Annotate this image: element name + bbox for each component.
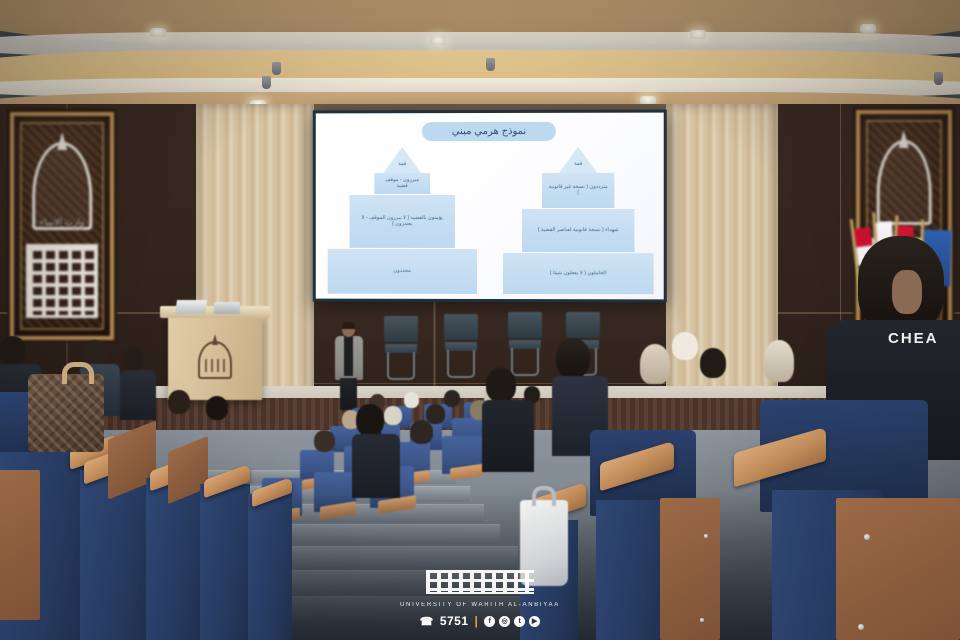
ceiling-camera-icon (934, 72, 943, 85)
person-head (444, 390, 460, 407)
person-head (124, 348, 144, 370)
projector-screen: نموذج هرمي مبني قمة مبررون - موقف قضية ي… (313, 110, 667, 303)
pyramid-apex (383, 147, 421, 173)
pyramid-apex-label: قمة (574, 161, 582, 167)
presenter-trousers (340, 378, 357, 410)
facebook-icon[interactable]: f (484, 616, 495, 627)
monitor-on-podium (214, 302, 240, 314)
chair-back (566, 312, 600, 338)
person-head (0, 336, 26, 366)
presenter-speaking (332, 322, 366, 408)
twitter-icon[interactable]: t (514, 616, 525, 627)
person-head (672, 332, 698, 360)
slide-title-pill: نموذج هرمي مبني (422, 122, 556, 141)
right-pyramid: قمة مترددون ( نسخة غير قانونية ) شهداء (… (503, 145, 654, 296)
ceiling-spotlight (150, 28, 166, 37)
person-head (404, 392, 419, 408)
phone-icon: ☎ (420, 615, 434, 628)
instagram-icon[interactable]: ◎ (499, 616, 510, 627)
auditorium-photo: وارث الانبياء نموذج هرمي مبني (0, 0, 960, 640)
presenter-shirt (344, 336, 353, 376)
chair-back (444, 314, 478, 340)
jacket-text: CHEA (888, 330, 939, 347)
pyramid-tier: الخاملون ( لا يفعلون شيئا ) (503, 253, 654, 295)
person-head (640, 344, 670, 384)
chair-back (508, 312, 542, 338)
chair-legs (511, 348, 539, 376)
ceiling-projector-icon (272, 62, 281, 75)
watermark-divider: | (475, 614, 479, 628)
chair-legs (387, 352, 415, 380)
chair-back (384, 316, 418, 342)
person-head (426, 404, 445, 424)
ceiling-spotlight (860, 24, 876, 33)
person-head (356, 404, 384, 436)
presenter-hair (342, 322, 355, 329)
person-body (352, 434, 400, 498)
university-kufic-logo (426, 570, 534, 594)
seat-screw (864, 534, 870, 540)
university-emblem-icon (198, 341, 232, 379)
person-head (168, 390, 190, 414)
wall-panel-text: وارث الانبياء (14, 217, 110, 228)
watermark-contact-row: ☎ 5751 | f ◎ t ▶ (0, 614, 960, 628)
podium (168, 316, 262, 400)
person-head (486, 368, 516, 402)
calligraphy-wall-panel-left: وارث الانبياء (10, 112, 114, 340)
person-body (482, 400, 534, 472)
person-head (556, 338, 590, 378)
social-icons: f ◎ t ▶ (484, 616, 540, 627)
ceiling-spotlight (430, 36, 446, 45)
person-head (410, 420, 433, 444)
person-head (700, 348, 726, 378)
ceiling-projector-icon (486, 58, 495, 71)
ceiling-camera-icon (262, 76, 271, 89)
phone-number: 5751 (440, 614, 469, 628)
pyramid-tier: مترددون ( نسخة غير قانونية ) (542, 173, 614, 209)
wall-slats-right (666, 104, 778, 434)
person-head (764, 340, 794, 382)
ceiling-spotlight (690, 30, 706, 39)
kufic-square-calligraphy-icon (26, 244, 99, 319)
pyramid-apex (559, 147, 597, 173)
pyramid-tier: شهداء ( نسخة قانونية لعناصر القضية ) (522, 209, 634, 253)
seat-screw (704, 534, 708, 538)
person-head (206, 396, 228, 420)
person-head (314, 430, 335, 452)
slide-content: نموذج هرمي مبني قمة مبررون - موقف قضية ي… (316, 113, 664, 300)
pyramid-apex-label: قمة (398, 161, 406, 167)
patterned-handbag-on-seat (28, 374, 104, 452)
pyramid-tier: مجددون (328, 249, 477, 295)
handbag-strap (62, 362, 94, 384)
person-head (84, 340, 106, 365)
chair-legs (447, 350, 475, 378)
person-head (384, 406, 402, 425)
pyramid-tier: مبررون - موقف قضية (374, 173, 430, 195)
person-body (120, 370, 156, 420)
university-name: UNIVERSITY OF WARITH AL-ANBIYAA (0, 602, 960, 608)
left-pyramid: قمة مبررون - موقف قضية يؤمنون بالقضية ( … (328, 145, 477, 295)
tote-handle (532, 486, 556, 506)
person-face (892, 270, 922, 314)
youtube-icon[interactable]: ▶ (529, 616, 540, 627)
watermark: UNIVERSITY OF WARITH AL-ANBIYAA ☎ 5751 |… (0, 570, 960, 628)
pyramid-tier: يؤمنون بالقضية ( لا يبررون الموقف - لا ي… (350, 195, 456, 249)
laptop-on-podium (175, 300, 207, 314)
